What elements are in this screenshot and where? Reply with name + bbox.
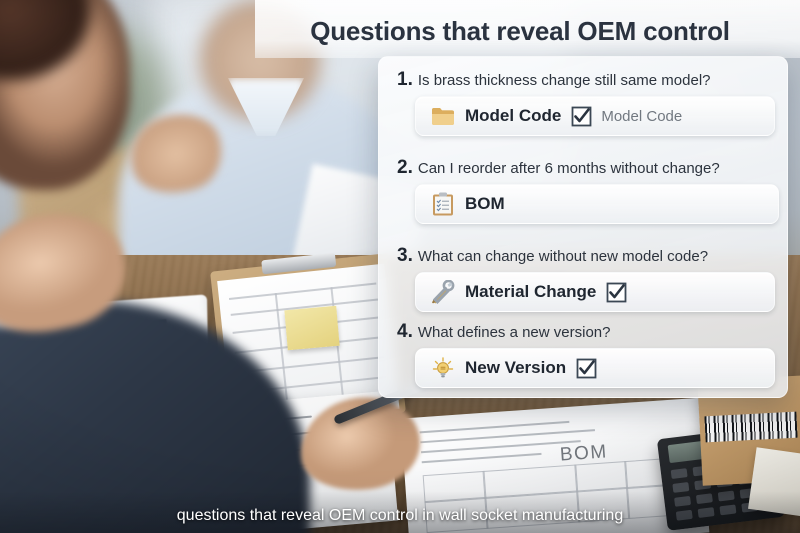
question-text: Is brass thickness change still same mod… <box>418 72 711 89</box>
question-item-4[interactable]: 4. What defines a new version? New Versi… <box>397 321 769 388</box>
checkbox-icon[interactable] <box>605 281 627 303</box>
answer-label: Material Change <box>465 282 596 302</box>
page-title: Questions that reveal OEM control <box>305 16 735 47</box>
answer-label: Model Code <box>465 106 561 126</box>
tools-icon <box>430 279 456 305</box>
answer-card[interactable]: BOM <box>415 184 779 224</box>
question-item-1[interactable]: 1. Is brass thickness change still same … <box>397 69 769 136</box>
checkbox-icon[interactable] <box>575 357 597 379</box>
answer-label: BOM <box>465 194 505 214</box>
answer-card[interactable]: New Version <box>415 348 775 388</box>
question-number: 2. <box>397 157 413 179</box>
question-text: What can change without new model code? <box>418 248 708 265</box>
question-item-3[interactable]: 3. What can change without new model cod… <box>397 245 769 312</box>
question-number: 4. <box>397 321 413 343</box>
question-heading: 2. Can I reorder after 6 months without … <box>397 157 769 179</box>
screenshot-root: BOM <box>0 0 800 533</box>
answer-card[interactable]: Material Change <box>415 272 775 312</box>
answer-label: New Version <box>465 358 566 378</box>
caption-text: questions that reveal OEM control in wal… <box>0 507 800 525</box>
question-text: What defines a new version? <box>418 324 611 341</box>
answer-card[interactable]: Model Code Model Code <box>415 96 775 136</box>
answer-sub-label: Model Code <box>601 108 682 125</box>
question-heading: 3. What can change without new model cod… <box>397 245 769 267</box>
lightbulb-icon <box>430 355 456 381</box>
question-heading: 4. What defines a new version? <box>397 321 769 343</box>
folder-icon <box>430 103 456 129</box>
questions-panel: 1. Is brass thickness change still same … <box>378 56 788 398</box>
checkbox-icon[interactable] <box>570 105 592 127</box>
question-text: Can I reorder after 6 months without cha… <box>418 160 720 177</box>
question-number: 3. <box>397 245 413 267</box>
question-heading: 1. Is brass thickness change still same … <box>397 69 769 91</box>
question-number: 1. <box>397 69 413 91</box>
clipboard-icon <box>430 191 456 217</box>
question-item-2[interactable]: 2. Can I reorder after 6 months without … <box>397 157 769 224</box>
